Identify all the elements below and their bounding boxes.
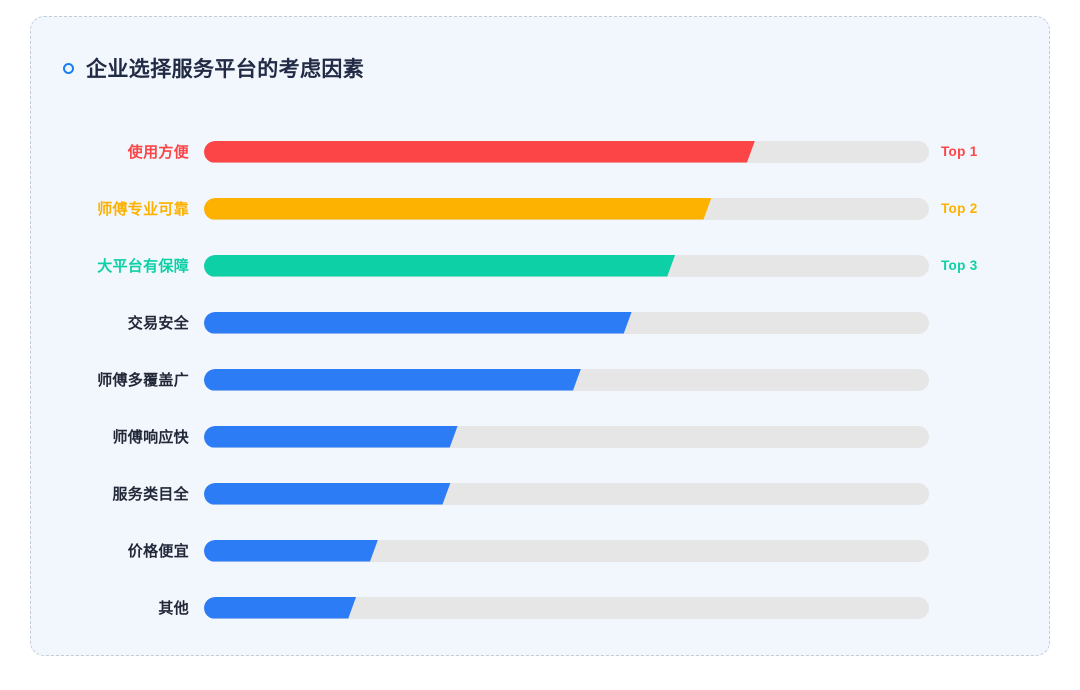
bar-label: 大平台有保障	[31, 255, 189, 276]
bar-chart: 使用方便Top 1师傅专业可靠Top 2大平台有保障Top 3交易安全师傅多覆盖…	[31, 123, 1049, 636]
bar-fill	[204, 141, 755, 163]
bar-track	[204, 198, 929, 220]
bar-fill	[204, 483, 451, 505]
bar-label: 交易安全	[31, 312, 189, 333]
bar-track	[204, 483, 929, 505]
rank-badge: Top 1	[941, 144, 978, 159]
bar-row: 大平台有保障Top 3	[31, 237, 1049, 294]
bar-track	[204, 369, 929, 391]
bar-track	[204, 312, 929, 334]
bar-row: 其他	[31, 579, 1049, 636]
bar-row: 交易安全	[31, 294, 1049, 351]
bar-label: 师傅多覆盖广	[31, 369, 189, 390]
bar-fill	[204, 255, 675, 277]
circle-outline-icon	[63, 63, 74, 74]
bar-fill	[204, 426, 458, 448]
bar-row: 师傅专业可靠Top 2	[31, 180, 1049, 237]
bar-fill	[204, 198, 712, 220]
page-title: 企业选择服务平台的考虑因素	[86, 53, 364, 83]
bar-label: 师傅专业可靠	[31, 198, 189, 219]
bar-track	[204, 426, 929, 448]
chart-card: 企业选择服务平台的考虑因素 使用方便Top 1师傅专业可靠Top 2大平台有保障…	[30, 16, 1050, 656]
bar-fill	[204, 597, 356, 619]
bar-fill	[204, 540, 378, 562]
bar-row: 服务类目全	[31, 465, 1049, 522]
bar-fill	[204, 312, 632, 334]
bar-track	[204, 597, 929, 619]
rank-badge: Top 3	[941, 258, 978, 273]
bar-label: 使用方便	[31, 141, 189, 162]
bar-label: 价格便宜	[31, 540, 189, 561]
bar-track	[204, 141, 929, 163]
bar-row: 价格便宜	[31, 522, 1049, 579]
bar-label: 其他	[31, 597, 189, 618]
bar-label: 服务类目全	[31, 483, 189, 504]
bar-row: 师傅多覆盖广	[31, 351, 1049, 408]
bar-row: 使用方便Top 1	[31, 123, 1049, 180]
bar-track	[204, 255, 929, 277]
bar-track	[204, 540, 929, 562]
chart-header: 企业选择服务平台的考虑因素	[63, 53, 364, 83]
rank-badge: Top 2	[941, 201, 978, 216]
bar-label: 师傅响应快	[31, 426, 189, 447]
bar-row: 师傅响应快	[31, 408, 1049, 465]
bar-fill	[204, 369, 581, 391]
